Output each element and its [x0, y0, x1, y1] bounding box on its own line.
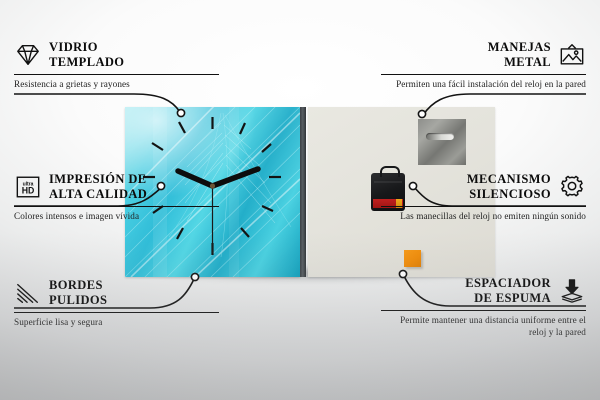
ultra-hd-icon: ultra HD: [14, 174, 42, 200]
feature-mecanismo-silencioso: MECANISMO SILENCIOSO Las manecillas del …: [381, 172, 586, 223]
feature-subtitle: Permiten una fácil instalación del reloj…: [381, 79, 586, 91]
feature-subtitle: Las manecillas del reloj no emiten ningú…: [381, 211, 586, 223]
feature-espaciador-espuma: ESPACIADOR DE ESPUMA Permite mantener un…: [381, 276, 586, 338]
title-line-2: SILENCIOSO: [467, 187, 551, 202]
feature-rule: [14, 206, 219, 207]
title-line-2: METAL: [488, 55, 551, 70]
title-line-1: MANEJAS: [488, 40, 551, 54]
diamond-icon: [14, 42, 42, 68]
title-line-2: ALTA CALIDAD: [49, 187, 147, 202]
feature-subtitle: Permite mantener una distancia uniforme …: [381, 315, 586, 339]
glass-edge: [300, 107, 306, 277]
feature-header: ESPACIADOR DE ESPUMA: [381, 276, 586, 306]
feature-rule: [14, 312, 219, 313]
feature-manejas-metal: MANEJAS METAL Permiten una fácil instala…: [381, 40, 586, 91]
feature-rule: [14, 74, 219, 75]
title-line-2: TEMPLADO: [49, 55, 124, 70]
feature-title: BORDES PULIDOS: [49, 278, 107, 308]
feature-title: IMPRESIÓN DE ALTA CALIDAD: [49, 172, 147, 202]
feature-rule: [381, 310, 586, 311]
feature-title: VIDRIO TEMPLADO: [49, 40, 124, 70]
feature-title: MANEJAS METAL: [488, 40, 551, 70]
feature-impresion-alta-calidad: ultra HD IMPRESIÓN DE ALTA CALIDAD Color…: [14, 172, 219, 223]
hd-label: HD: [22, 185, 35, 195]
feature-header: BORDES PULIDOS: [14, 278, 219, 308]
title-line-1: MECANISMO: [467, 172, 551, 186]
title-line-1: ESPACIADOR: [465, 276, 551, 290]
hatched-edge-icon: [14, 280, 42, 306]
infographic-canvas: VIDRIO TEMPLADO Resistencia a grietas y …: [0, 0, 600, 400]
feature-rule: [381, 206, 586, 207]
title-line-1: IMPRESIÓN DE: [49, 172, 147, 186]
feature-vidrio-templado: VIDRIO TEMPLADO Resistencia a grietas y …: [14, 40, 219, 91]
metal-hanger-plate: [418, 119, 466, 165]
title-line-1: VIDRIO: [49, 40, 98, 54]
feature-header: ultra HD IMPRESIÓN DE ALTA CALIDAD: [14, 172, 219, 202]
feature-subtitle: Colores intensos e imagen vívida: [14, 211, 219, 223]
feature-subtitle: Superficie lisa y segura: [14, 317, 219, 329]
feature-header: MECANISMO SILENCIOSO: [381, 172, 586, 202]
title-line-1: BORDES: [49, 278, 103, 292]
title-line-2: PULIDOS: [49, 293, 107, 308]
feature-title: ESPACIADOR DE ESPUMA: [465, 276, 551, 306]
gear-icon: [558, 174, 586, 200]
feature-rule: [381, 74, 586, 75]
arrow-into-foam-icon: [558, 278, 586, 304]
feature-bordes-pulidos: BORDES PULIDOS Superficie lisa y segura: [14, 278, 219, 329]
feature-header: MANEJAS METAL: [381, 40, 586, 70]
picture-hanger-icon: [558, 42, 586, 68]
foam-spacer-pad: [404, 250, 421, 267]
feature-subtitle: Resistencia a grietas y rayones: [14, 79, 219, 91]
title-line-2: DE ESPUMA: [465, 291, 551, 306]
feature-title: MECANISMO SILENCIOSO: [467, 172, 551, 202]
hanger-slot: [426, 133, 454, 140]
feature-header: VIDRIO TEMPLADO: [14, 40, 219, 70]
